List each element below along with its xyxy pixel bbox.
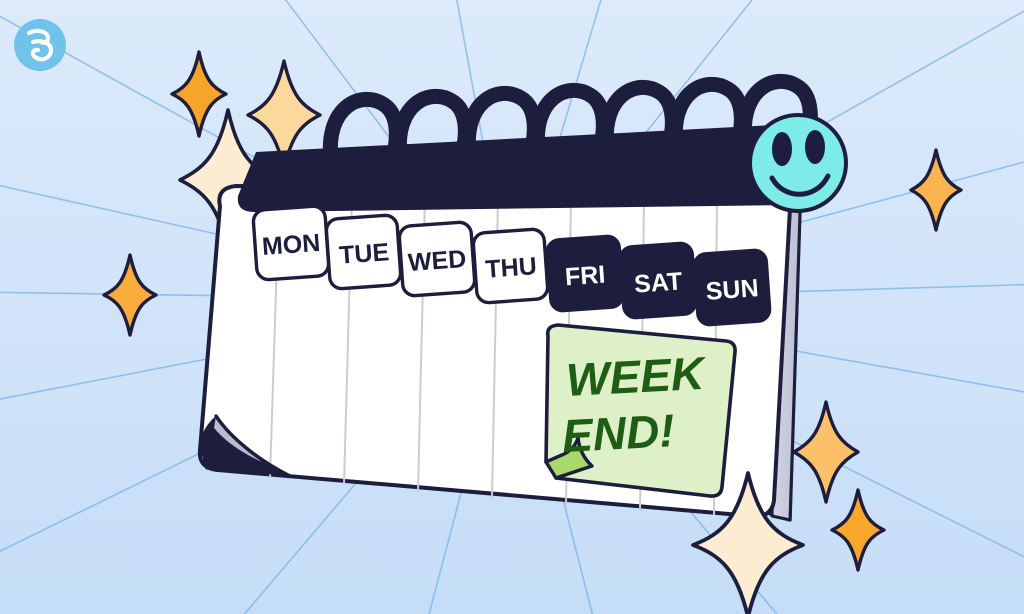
sparkle-orange-left-mid-icon: [104, 255, 156, 335]
day-tab-tue[interactable]: TUE: [326, 215, 402, 290]
day-tab-label: WED: [407, 245, 467, 277]
sticky-note-line1: WEEK: [565, 347, 708, 406]
sparkle-orange-right-mid-icon: [794, 402, 858, 502]
sparkle-orange-right-top-icon: [911, 150, 961, 230]
smiley-left-eye-icon: [772, 132, 792, 166]
day-tab-label: SUN: [705, 274, 760, 306]
sparkle-orange-top-left-icon: [172, 52, 226, 136]
day-tab-label: THU: [485, 252, 538, 284]
day-tab-label: SAT: [633, 267, 683, 298]
day-tab-mon[interactable]: MON: [253, 206, 330, 281]
day-tab-thu[interactable]: THU: [473, 229, 549, 304]
sticky-note-line2: END!: [561, 404, 676, 462]
smiley-face[interactable]: [750, 115, 846, 211]
day-tab-fri[interactable]: FRI: [547, 236, 624, 312]
day-tab-label: MON: [261, 229, 321, 261]
day-tab-label: TUE: [338, 238, 390, 269]
day-tab-wed[interactable]: WED: [399, 222, 476, 297]
logo-circle: [14, 19, 66, 71]
smiley-right-eye-icon: [805, 130, 825, 164]
artwork-layer: MON TUE WED THU: [0, 0, 1024, 614]
illustration-canvas: MON TUE WED THU: [0, 0, 1024, 614]
sparkle-orange-bottom-icon: [832, 490, 884, 570]
weekend-sticky-note[interactable]: WEEK END!: [546, 325, 735, 496]
brand-logo[interactable]: [14, 19, 66, 71]
day-tab-sat[interactable]: SAT: [620, 243, 697, 319]
day-tab-sun[interactable]: SUN: [694, 250, 771, 326]
day-tab-label: FRI: [564, 261, 606, 292]
calendar-header-bar: [238, 125, 794, 212]
